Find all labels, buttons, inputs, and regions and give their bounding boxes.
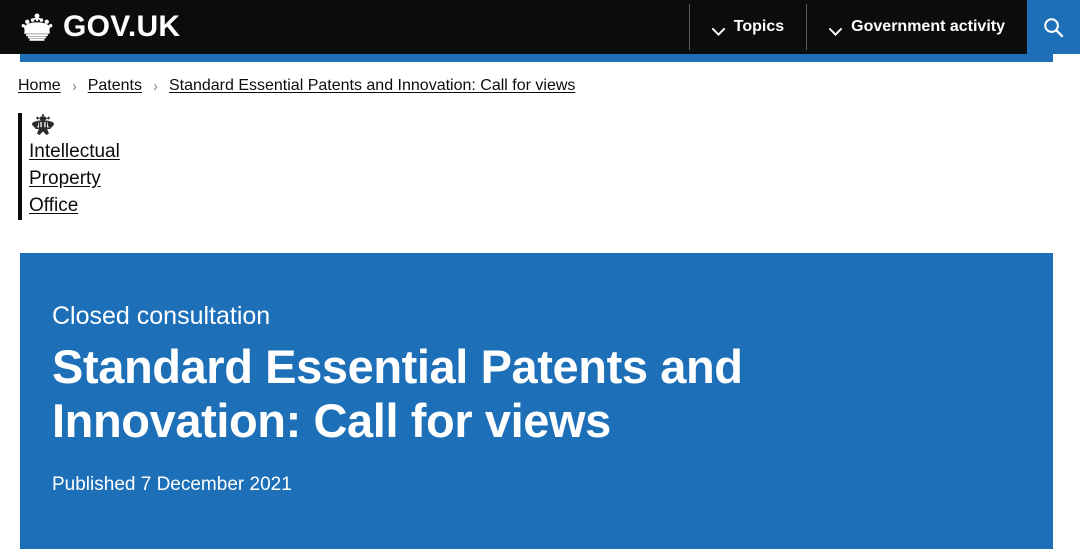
chevron-down-icon [712, 23, 725, 31]
consultation-status-label: Closed consultation [52, 301, 1021, 331]
breadcrumb-item-patents[interactable]: Patents [88, 77, 142, 95]
organisation-name-line-1: Intellectual [29, 139, 120, 166]
breadcrumb: Home › Patents › Standard Essential Pate… [0, 62, 1080, 95]
breadcrumb-separator-icon: › [72, 78, 76, 95]
header-accent-strip-row [0, 54, 1080, 62]
organisation-logo-wrapper: Intellectual Property Office [0, 95, 1080, 220]
organisation-logo-link[interactable]: Intellectual Property Office [18, 113, 120, 220]
nav-item-government-activity-label: Government activity [851, 18, 1005, 36]
breadcrumb-item-current[interactable]: Standard Essential Patents and Innovatio… [169, 77, 575, 95]
search-icon [1043, 17, 1064, 38]
govuk-logo-text: GOV.UK [63, 12, 180, 42]
nav-item-topics[interactable]: Topics [690, 0, 806, 54]
royal-coat-of-arms-icon [29, 113, 57, 136]
organisation-name-line-3: Office [29, 193, 120, 220]
breadcrumb-item-home[interactable]: Home [18, 77, 61, 95]
govuk-logo-link[interactable]: GOV.UK [0, 0, 180, 54]
hero-banner: Closed consultation Standard Essential P… [20, 253, 1053, 549]
published-date: Published 7 December 2021 [52, 473, 1021, 498]
organisation-name-line-2: Property [29, 166, 120, 193]
page-title: Standard Essential Patents and Innovatio… [52, 340, 832, 449]
header-spacer [180, 0, 688, 54]
search-button[interactable] [1027, 0, 1080, 54]
header-navigation: Topics Government activity [689, 0, 1080, 54]
nav-item-government-activity[interactable]: Government activity [807, 0, 1027, 54]
govuk-global-header: GOV.UK Topics Government activity [0, 0, 1080, 54]
breadcrumb-separator-icon: › [153, 78, 157, 95]
crown-icon [18, 12, 56, 42]
nav-item-topics-label: Topics [734, 18, 784, 36]
chevron-down-icon [829, 23, 842, 31]
header-accent-strip [20, 54, 1053, 62]
hero-banner-wrapper: Closed consultation Standard Essential P… [0, 253, 1080, 549]
